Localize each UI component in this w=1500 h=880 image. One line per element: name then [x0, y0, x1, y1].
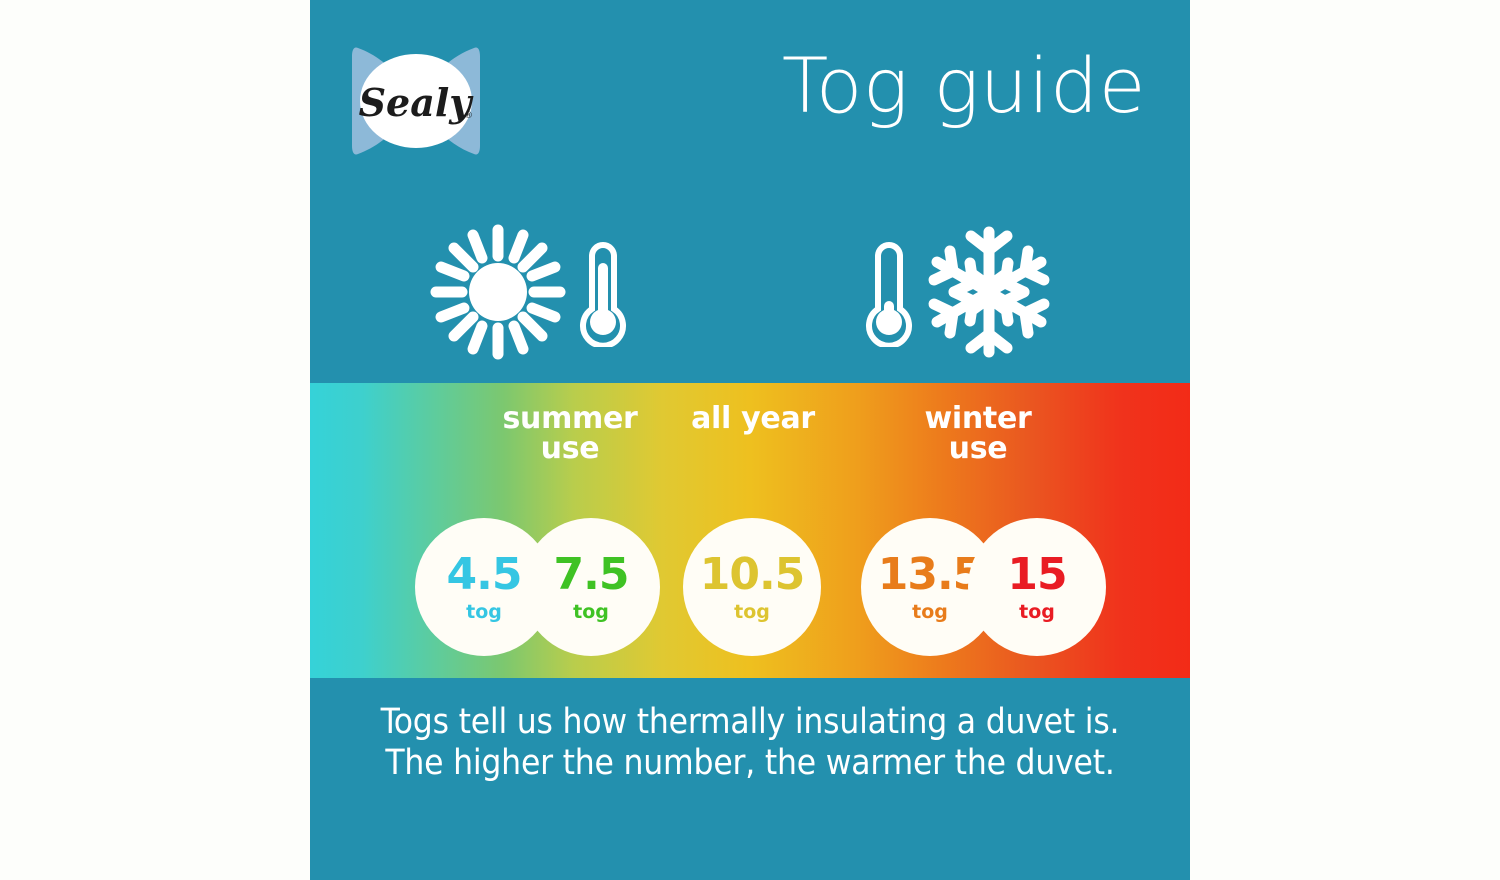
tog-unit: tog	[734, 603, 770, 622]
warm-icon-group	[428, 222, 634, 362]
tog-guide-infographic: Sealy ® Tog guide	[310, 0, 1190, 880]
tog-circles-row: 4.5 tog 7.5 tog 10.5 tog 13.5 to	[310, 507, 1190, 667]
thermometer-cold-icon	[858, 237, 920, 347]
tog-value: 13.5	[878, 553, 983, 597]
tog-pair-summer: 4.5 tog 7.5 tog	[415, 507, 660, 667]
tog-unit: tog	[466, 603, 502, 622]
tog-circle-7-5[interactable]: 7.5 tog	[522, 518, 660, 656]
season-label-winter-line1: winter	[868, 404, 1088, 434]
cold-icon-group	[858, 222, 1052, 362]
snowflake-icon	[926, 224, 1052, 360]
tog-unit: tog	[1019, 603, 1055, 622]
sealy-logo: Sealy ®	[352, 38, 480, 164]
page-title: Tog guide	[782, 48, 1146, 124]
tog-unit: tog	[912, 603, 948, 622]
tog-circle-10-5[interactable]: 10.5 tog	[683, 518, 821, 656]
season-label-summer-line2: use	[460, 434, 680, 464]
tog-pair-allyear: 10.5 tog	[683, 507, 821, 667]
footer-caption: Togs tell us how thermally insulating a …	[370, 702, 1130, 784]
header-section: Sealy ® Tog guide	[310, 0, 1190, 383]
tog-value: 15	[1007, 553, 1066, 597]
tog-value: 7.5	[554, 553, 629, 597]
tog-value: 4.5	[447, 553, 522, 597]
tog-value: 10.5	[700, 553, 805, 597]
season-label-allyear-line1: all year	[643, 404, 863, 434]
sealy-wordmark: Sealy	[359, 80, 475, 125]
thermometer-hot-icon	[572, 237, 634, 347]
tog-scale-band: summer use all year winter use 4.5 tog 7…	[310, 383, 1190, 678]
season-label-winter: winter use	[868, 404, 1088, 464]
tog-circle-15[interactable]: 15 tog	[968, 518, 1106, 656]
season-label-winter-line2: use	[868, 434, 1088, 464]
sun-icon	[428, 222, 568, 362]
svg-text:®: ®	[464, 111, 473, 121]
season-labels: summer use all year winter use	[310, 404, 1190, 484]
tog-unit: tog	[573, 603, 609, 622]
season-label-allyear: all year	[643, 404, 863, 434]
tog-pair-winter: 13.5 tog 15 tog	[861, 507, 1106, 667]
